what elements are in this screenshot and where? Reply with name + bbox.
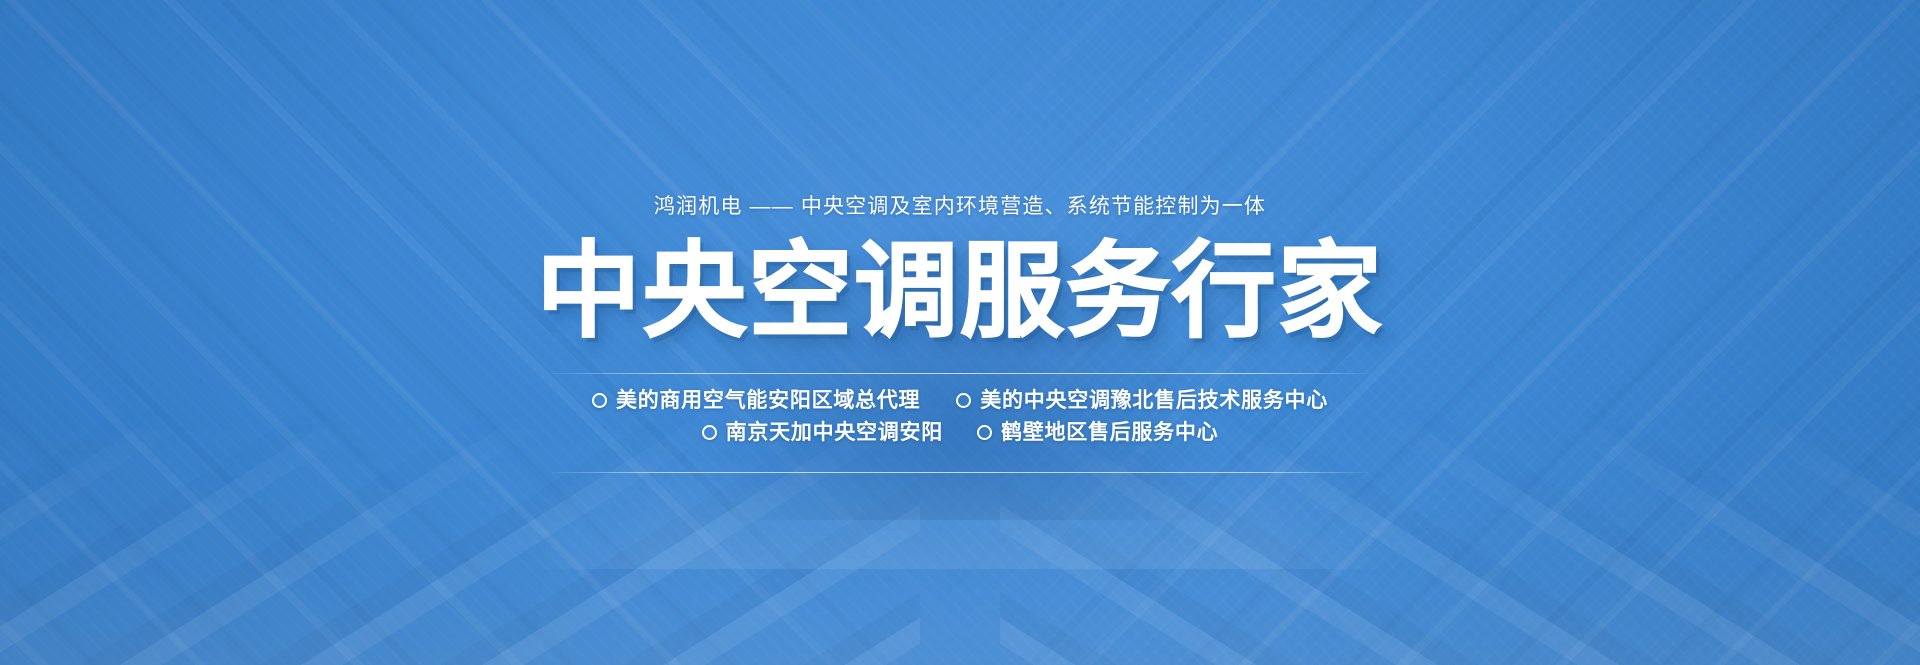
tagline-item-midea-commercial-agent[interactable]: 美的商用空气能安阳区域总代理 [592,390,920,411]
tagline-list: 美的商用空气能安阳区域总代理 美的中央空调豫北售后技术服务中心 南京天加中央空调… [0,374,1920,443]
tagline-row-2: 南京天加中央空调安阳 鹤壁地区售后服务中心 [0,422,1920,443]
hollow-circle-icon [956,393,971,408]
tagline-label: 美的中央空调豫北售后技术服务中心 [980,390,1328,411]
banner-headline: 中央空调服务行家 [0,239,1920,345]
tagline-label: 鹤壁地区售后服务中心 [1001,422,1218,443]
banner-subtitle: 鸿润机电 —— 中央空调及室内环境营造、系统节能控制为一体 [0,196,1920,217]
tagline-row-1: 美的商用空气能安阳区域总代理 美的中央空调豫北售后技术服务中心 [0,390,1920,411]
hero-content: 鸿润机电 —— 中央空调及室内环境营造、系统节能控制为一体 中央空调服务行家 美… [0,0,1920,473]
tagline-item-hebi-service-center[interactable]: 鹤壁地区售后服务中心 [977,422,1218,443]
tagline-label: 美的商用空气能安阳区域总代理 [616,390,920,411]
tagline-item-nanjing-tica-anyang[interactable]: 南京天加中央空调安阳 [702,422,943,443]
tagline-label: 南京天加中央空调安阳 [726,422,943,443]
hero-banner: 鸿润机电 —— 中央空调及室内环境营造、系统节能控制为一体 中央空调服务行家 美… [0,0,1920,665]
divider-bottom [552,472,1368,473]
tagline-item-midea-yubei-service-center[interactable]: 美的中央空调豫北售后技术服务中心 [956,390,1328,411]
hollow-circle-icon [592,393,607,408]
hollow-circle-icon [977,425,992,440]
hollow-circle-icon [702,425,717,440]
